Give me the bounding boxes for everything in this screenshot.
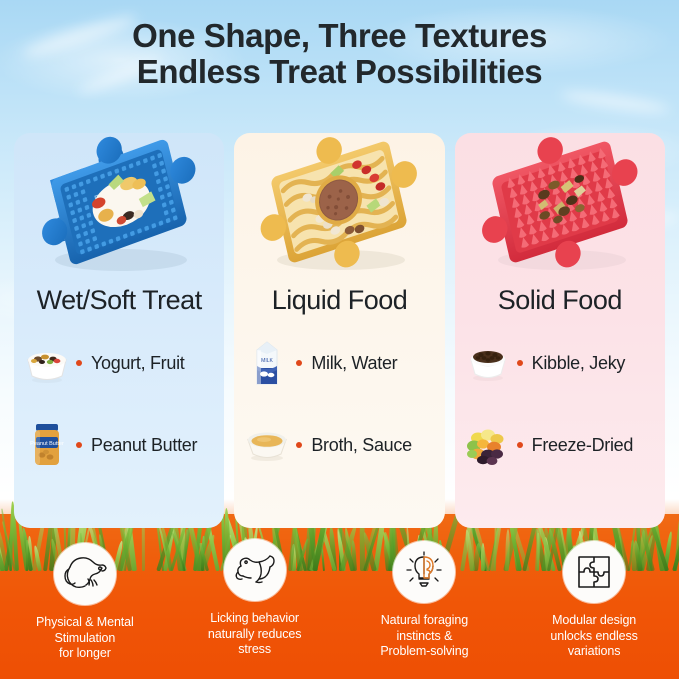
red-puzzle-nub-mat-icon (455, 133, 665, 283)
milk-carton-icon: MILK (242, 341, 292, 385)
blue-puzzle-lick-mat-icon: PAWSOME STAY PAWSIT (14, 133, 224, 283)
feature-label: Yogurt, Fruit (91, 353, 184, 374)
svg-text:MILK: MILK (261, 358, 273, 364)
bullet-dot (517, 360, 523, 366)
benefit-licking-reduces-stress: Licking behavior naturally reduces stres… (170, 535, 340, 675)
yogurt-bowl-icon (22, 341, 72, 385)
page-title: One Shape, Three Textures Endless Treat … (0, 18, 679, 90)
feature-list: MILK Milk, Water (234, 341, 444, 467)
card-wet-soft-treat[interactable]: PAWSOME STAY PAWSIT (14, 133, 224, 528)
list-item: Broth, Sauce (242, 423, 444, 467)
bullet-dot (296, 442, 302, 448)
list-item: MILK Milk, Water (242, 341, 444, 385)
freeze-dried-fruit-icon (463, 423, 513, 467)
card-heading: Wet/Soft Treat (37, 285, 202, 315)
card-solid-food[interactable]: Solid Food (455, 133, 665, 528)
puzzle-grid-icon (563, 541, 625, 603)
feature-label: Kibble, Jeky (532, 353, 625, 374)
benefit-modular-design: Modular design unlocks endless variation… (509, 535, 679, 675)
benefit-text: Physical & Mental Stimulation for longer (32, 615, 138, 662)
list-item: Peanut Butter Peanut Butter (22, 423, 224, 467)
feature-list: Yogurt, Fruit Peanut Butter (14, 341, 224, 467)
bullet-dot (296, 360, 302, 366)
peanut-butter-jar-icon: Peanut Butter (22, 423, 72, 467)
list-item: Freeze-Dried (463, 423, 665, 467)
broth-bowl-icon (242, 423, 292, 467)
feature-list: Kibble, Jeky (455, 341, 665, 467)
infographic-root: One Shape, Three Textures Endless Treat … (0, 0, 679, 679)
title-line-1: One Shape, Three Textures (0, 18, 679, 54)
card-heading: Liquid Food (272, 285, 408, 315)
benefit-text: Natural foraging instincts & Problem-sol… (376, 613, 472, 660)
feature-label: Broth, Sauce (311, 435, 411, 456)
benefits-row: Physical & Mental Stimulation for longer (0, 535, 679, 675)
texture-cards-row: PAWSOME STAY PAWSIT (0, 133, 679, 528)
kibble-bowl-icon (463, 341, 513, 385)
dog-head-profile-icon (54, 543, 116, 605)
card-heading: Solid Food (498, 285, 622, 315)
title-line-2: Endless Treat Possibilities (0, 54, 679, 90)
bullet-dot (76, 442, 82, 448)
benefit-text: Modular design unlocks endless variation… (546, 613, 641, 660)
card-liquid-food[interactable]: Liquid Food MILK (234, 133, 444, 528)
benefit-natural-foraging: Natural foraging instincts & Problem-sol… (340, 535, 510, 675)
yellow-puzzle-wave-mat-icon (234, 133, 444, 283)
bullet-dot (517, 442, 523, 448)
lightbulb-brain-icon (393, 541, 455, 603)
feature-label: Milk, Water (311, 353, 397, 374)
benefit-text: Licking behavior naturally reduces stres… (204, 611, 306, 658)
dog-playing-icon (224, 539, 286, 601)
feature-label: Freeze-Dried (532, 435, 633, 456)
bullet-dot (76, 360, 82, 366)
list-item: Yogurt, Fruit (22, 341, 224, 385)
list-item: Kibble, Jeky (463, 341, 665, 385)
benefit-physical-mental-stimulation: Physical & Mental Stimulation for longer (0, 535, 170, 675)
feature-label: Peanut Butter (91, 435, 197, 456)
